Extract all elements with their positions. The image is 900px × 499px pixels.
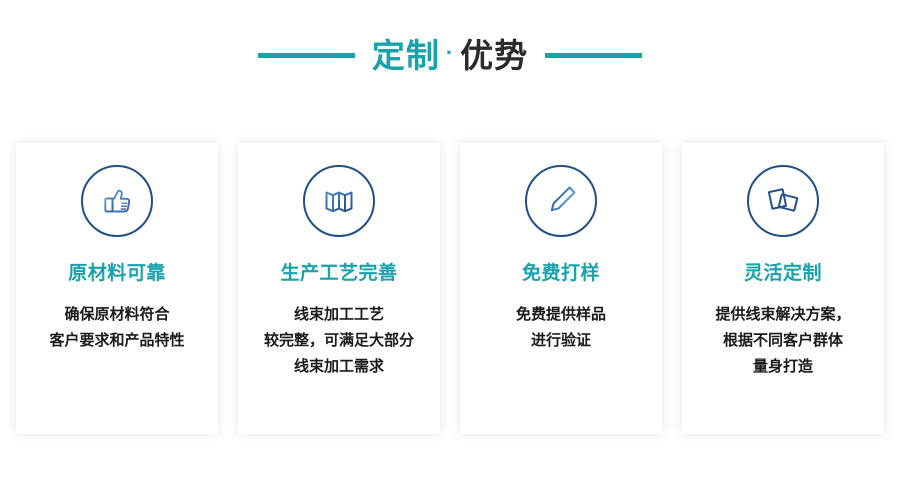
advantage-card-list: 原材料可靠 确保原材料符合 客户要求和产品特性 生产工艺完善 线束加 [16, 143, 884, 434]
advantages-section: 定制 · 优势 [0, 0, 900, 499]
advantage-card-free-sample[interactable]: 免费打样 免费提供样品 进行验证 [460, 143, 662, 434]
card-description: 免费提供样品 进行验证 [508, 302, 614, 355]
advantage-card-flexible-custom[interactable]: 灵活定制 提供线束解决方案， 根据不同客户群体 量身打造 [682, 143, 884, 434]
card-heading: 灵活定制 [744, 263, 822, 286]
pencil-icon [525, 165, 597, 237]
advantage-card-process[interactable]: 生产工艺完善 线束加工工艺 较完整，可满足大部分 线束加工需求 [238, 143, 440, 434]
title-dark-text: 优势 [460, 39, 528, 72]
card-heading: 生产工艺完善 [280, 263, 397, 286]
card-description: 线束加工工艺 较完整，可满足大部分 线束加工需求 [256, 302, 422, 381]
folded-map-icon [303, 165, 375, 237]
title-rule-left [258, 53, 355, 58]
title-separator-dot: · [446, 42, 454, 64]
title-rule-right [545, 53, 642, 58]
section-title: 定制 · 优势 [0, 28, 900, 82]
card-description: 提供线束解决方案， 根据不同客户群体 量身打造 [707, 302, 858, 381]
advantage-card-raw-material[interactable]: 原材料可靠 确保原材料符合 客户要求和产品特性 [16, 143, 218, 434]
title-accent-text: 定制 [372, 39, 440, 72]
page-title: 定制 · 优势 [372, 39, 528, 72]
card-heading: 原材料可靠 [68, 263, 166, 286]
card-heading: 免费打样 [522, 263, 600, 286]
thumbs-up-icon [81, 165, 153, 237]
stacked-cards-icon [747, 165, 819, 237]
card-description: 确保原材料符合 客户要求和产品特性 [41, 302, 192, 355]
